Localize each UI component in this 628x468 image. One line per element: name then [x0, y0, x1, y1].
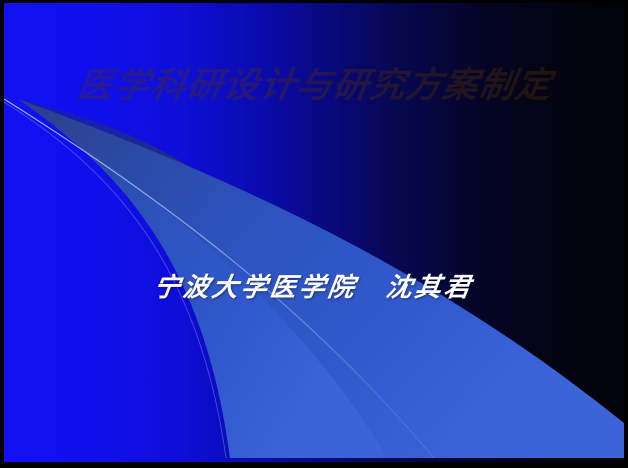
title-block: 医学科研设计与研究方案制定 — [4, 67, 624, 102]
author-affiliation-line: 宁波大学医学院 沈其君 — [153, 275, 476, 301]
slide-canvas: 医学科研设计与研究方案制定 宁波大学医学院 沈其君 — [4, 3, 624, 462]
subtitle-block: 宁波大学医学院 沈其君 — [4, 275, 624, 301]
presentation-slide: 医学科研设计与研究方案制定 宁波大学医学院 沈其君 — [0, 0, 628, 468]
page-title: 医学科研设计与研究方案制定 — [74, 67, 554, 102]
